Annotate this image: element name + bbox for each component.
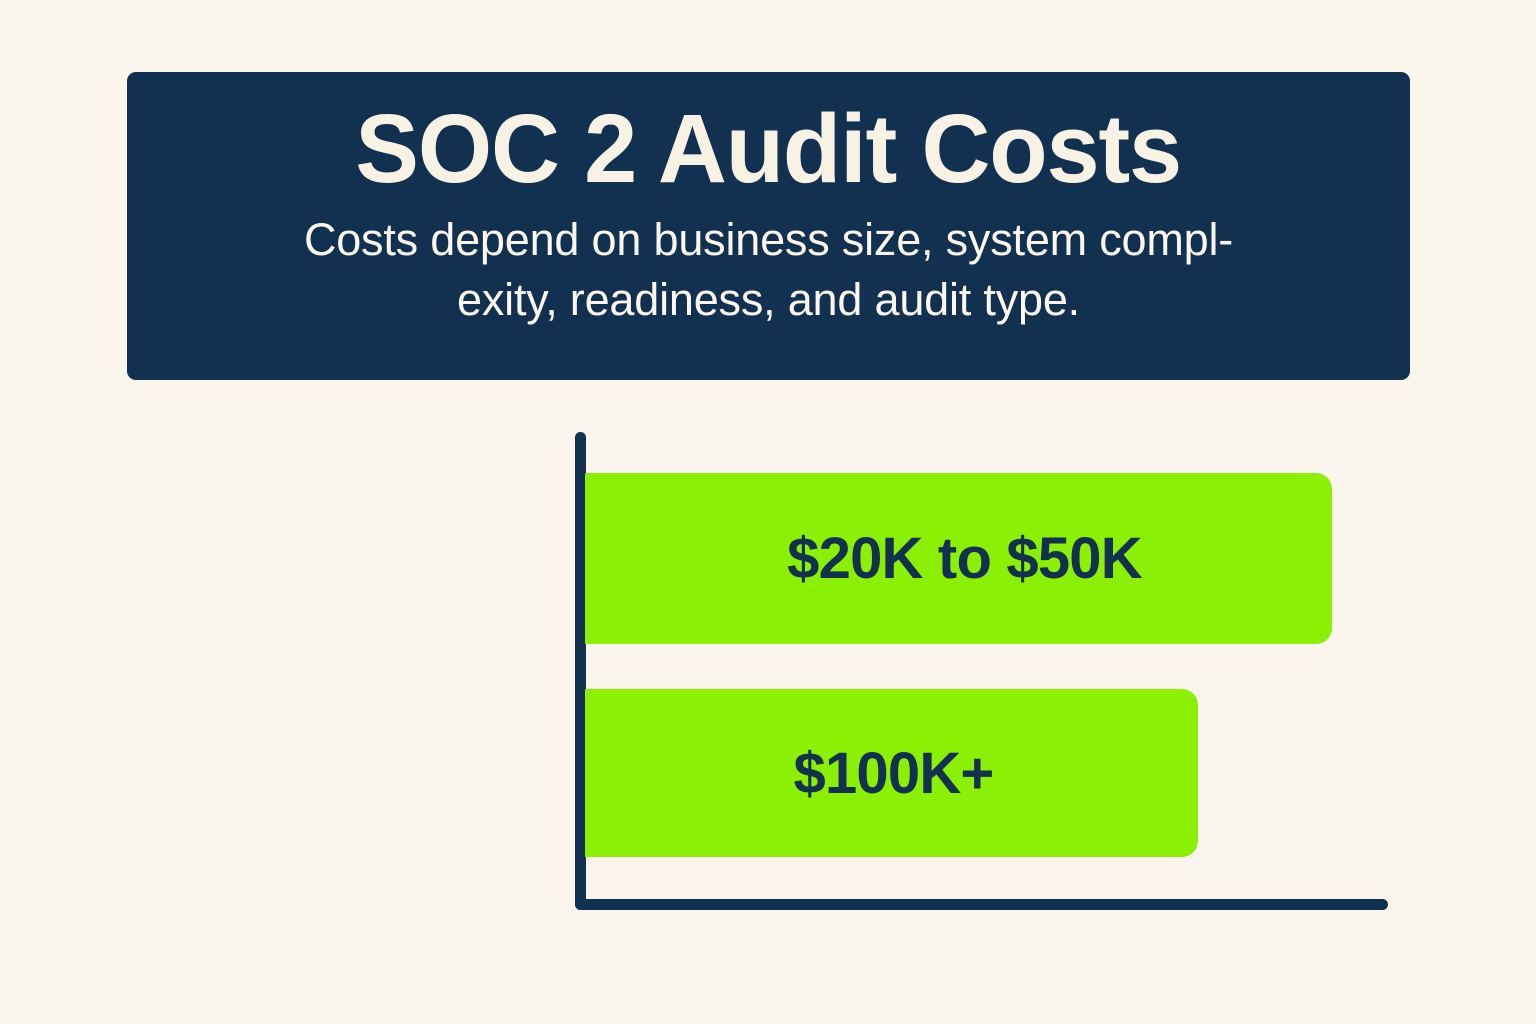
- bar-smbs: $20K to $50K: [585, 473, 1332, 644]
- infographic-canvas: SOC 2 Audit Costs Costs depend on busine…: [0, 0, 1536, 1024]
- bar-large-enterprises: $100K+: [585, 689, 1198, 857]
- bar-chart: SMBs: $20K to $50K Large Enterprises: $1…: [0, 0, 1536, 1024]
- bar-value-label-smbs: $20K to $50K: [585, 525, 1332, 592]
- x-axis-line: [575, 899, 1388, 910]
- bar-value-label-large-enterprises: $100K+: [585, 740, 1198, 807]
